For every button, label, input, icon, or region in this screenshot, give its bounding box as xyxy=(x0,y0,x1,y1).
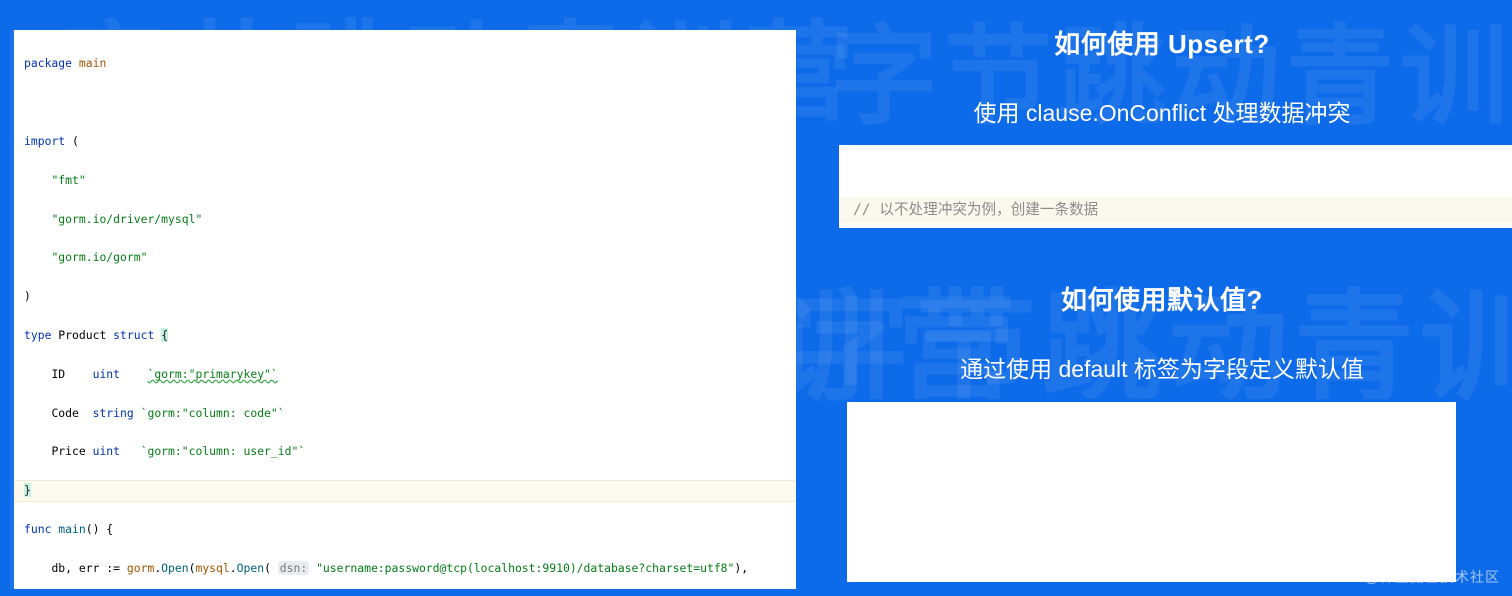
token-keyword-import: import xyxy=(24,134,65,148)
right-content-panel: 如何使用 Upsert? 使用 clause.OnConflict 处理数据冲突… xyxy=(812,0,1512,596)
token-tag-code: `gorm:"column: code"` xyxy=(141,406,285,420)
token-paren: ( xyxy=(72,134,79,148)
token-db-err: db, err := xyxy=(51,561,126,575)
code-line: Code string `gorm:"column: code"` xyxy=(24,404,796,423)
upsert-code-snippet[interactable]: // 以不处理冲突为例，创建一条数据 p := &Product{Code: "… xyxy=(837,143,1512,230)
token-field-code: Code xyxy=(51,406,78,420)
upsert-section-title: 如何使用 Upsert? xyxy=(812,24,1512,61)
small-watermark: 暖天 8521 xyxy=(1304,537,1365,582)
small-watermark: 暖天 8521 xyxy=(1174,443,1235,488)
token-comment-upsert: // 以不处理冲突为例，创建一条数据 xyxy=(853,201,1098,218)
small-watermark: 暖天 8521 xyxy=(904,443,965,488)
code-line: type Product struct { xyxy=(24,326,796,345)
default-section-subtitle: 通过使用 default 标签为字段定义默认值 xyxy=(812,350,1512,384)
token-call-open2: Open xyxy=(237,561,264,575)
code-line: "fmt" xyxy=(24,171,796,190)
code-line-comment: // 以不处理冲突为例，创建一条数据 xyxy=(839,197,1512,223)
token-type-product: Product xyxy=(58,328,106,342)
token-func-parens: () { xyxy=(86,522,113,536)
editor-code-body[interactable]: package main import ( "fmt" "gorm.io/dri… xyxy=(14,30,796,589)
token-param-hint-dsn: dsn: xyxy=(278,561,309,575)
default-value-code-snippet[interactable]: 暖天 8521 暖天 8521 暖天 8521 暖天 8521 type Use… xyxy=(844,399,1459,585)
token-brace-open-selected: { xyxy=(161,328,168,342)
code-line: ) xyxy=(24,287,796,306)
upsert-section-subtitle: 使用 clause.OnConflict 处理数据冲突 xyxy=(812,94,1512,128)
token-call-open: Open xyxy=(161,561,188,575)
token-field-price: Price xyxy=(51,444,85,458)
token-dot: . xyxy=(230,561,237,575)
code-line: Price uint `gorm:"column: user_id"` xyxy=(24,442,796,461)
token-dsn-value: "username:password@tcp(localhost:9910)/d… xyxy=(316,561,734,575)
code-line: "gorm.io/gorm" xyxy=(24,248,796,267)
code-line: func main() { xyxy=(24,520,796,539)
token-type-uint: uint xyxy=(93,367,120,381)
token-import-gorm: "gorm.io/gorm" xyxy=(51,250,147,264)
token-type-string: string xyxy=(93,406,134,420)
code-line: ID uint `gorm:"primarykey"` xyxy=(24,365,796,384)
token-pkg-mysql: mysql xyxy=(195,561,229,575)
token-type-uint: uint xyxy=(93,444,120,458)
token-paren-close: ) xyxy=(24,289,31,303)
token-paren: ( xyxy=(264,561,278,575)
token-comma: ), xyxy=(734,561,748,575)
token-brace-close-selected: } xyxy=(24,483,31,497)
code-line: "gorm.io/driver/mysql" xyxy=(24,210,796,229)
code-line: import ( xyxy=(24,132,796,151)
code-editor-panel[interactable]: 暖天 8521 暖天 8521 暖天 8521 暖天 8521 暖天 8521 … xyxy=(10,30,796,589)
code-line-blank xyxy=(24,93,796,112)
code-line: package main xyxy=(24,54,796,73)
small-watermark: 暖天 8521 xyxy=(994,537,1055,582)
token-func-main: main xyxy=(58,522,85,536)
token-field-id: ID xyxy=(51,367,65,381)
token-keyword-struct: struct xyxy=(113,328,154,342)
token-import-fmt: "fmt" xyxy=(51,173,85,187)
token-package-name: main xyxy=(79,56,106,70)
token-keyword-type: type xyxy=(24,328,51,342)
token-tag-userid: `gorm:"column: user_id"` xyxy=(141,444,306,458)
token-pkg-gorm: gorm xyxy=(127,561,154,575)
code-line-current: } xyxy=(24,481,796,500)
code-line: db, err := gorm.Open(mysql.Open( dsn: "u… xyxy=(24,559,796,578)
credit-watermark: @稀土掘金技术社区 xyxy=(1365,567,1500,587)
token-keyword-package: package xyxy=(24,56,72,70)
token-keyword-func: func xyxy=(24,522,51,536)
token-import-mysql: "gorm.io/driver/mysql" xyxy=(51,212,202,226)
token-tag-primarykey: `gorm:"primarykey"` xyxy=(147,367,277,381)
default-section-title: 如何使用默认值? xyxy=(812,280,1512,317)
